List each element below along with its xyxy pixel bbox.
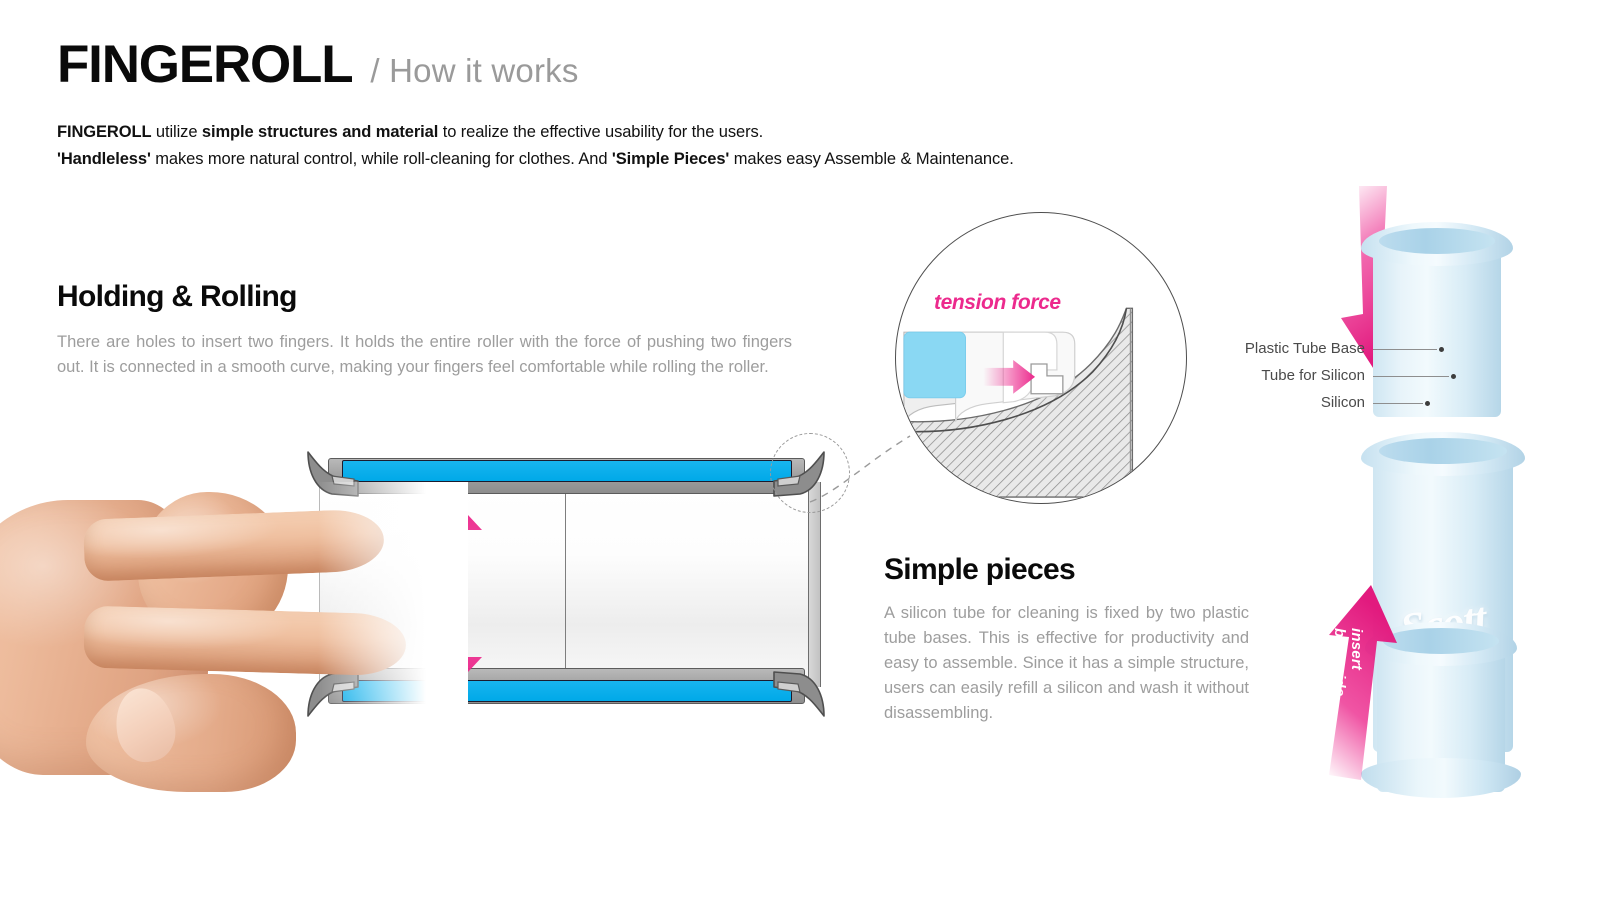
- magnifier-detail: tension force: [895, 212, 1187, 504]
- leader-dot-3: [1425, 401, 1430, 406]
- tension-cross-section-diagram: [896, 213, 1186, 503]
- leader-dot-1: [1439, 347, 1444, 352]
- intro-text-2: to realize the effective usability for t…: [438, 123, 763, 141]
- intro-text-4: makes easy Assemble & Maintenance.: [729, 150, 1013, 168]
- roller-top-cyan-strip: [342, 460, 792, 482]
- tube-base-top-cylinder: [1373, 244, 1501, 417]
- tube-base-bottom-rim: [1383, 628, 1499, 654]
- leader-line-2: [1373, 376, 1449, 377]
- plastic-tube-base-top: [1373, 222, 1501, 417]
- page-title: FINGEROLL: [57, 38, 352, 91]
- poster-canvas: FINGEROLL / How it works FINGEROLL utili…: [0, 0, 1600, 900]
- intro-text-3: makes more natural control, while roll-c…: [151, 150, 612, 168]
- exploded-tube-assembly: Scott ® insert both side Plastic Tube Ba…: [1225, 190, 1585, 780]
- page-subtitle: / How it works: [370, 54, 578, 87]
- holding-heading: Holding & Rolling: [57, 280, 797, 314]
- silicon-tube-inner-rim: [1379, 438, 1507, 464]
- insert-both-side-label: insert both side: [1331, 628, 1365, 696]
- simple-body: A silicon tube for cleaning is fixed by …: [884, 601, 1249, 726]
- holding-body: There are holes to insert two fingers. I…: [57, 330, 792, 380]
- intro-text-1: utilize: [151, 123, 201, 141]
- intro-emph-2: 'Handleless': [57, 150, 151, 168]
- leader-dot-2: [1451, 374, 1456, 379]
- intro-paragraph: FINGEROLL utilize simple structures and …: [57, 119, 1507, 172]
- title-row: FINGEROLL / How it works: [57, 38, 1507, 91]
- header: FINGEROLL / How it works FINGEROLL utili…: [57, 38, 1507, 172]
- label-plastic-tube-base: Plastic Tube Base: [1225, 340, 1365, 357]
- section-holding-rolling: Holding & Rolling There are holes to ins…: [57, 280, 797, 380]
- insert-label-line-2: both side: [1331, 628, 1348, 696]
- intro-line-1: FINGEROLL utilize simple structures and …: [57, 119, 1507, 146]
- intro-brand: FINGEROLL: [57, 123, 151, 141]
- hand-photo: [0, 492, 458, 792]
- hand-fade-mask: [318, 482, 468, 802]
- simple-heading: Simple pieces: [884, 553, 1249, 587]
- tube-base-top-rim: [1379, 228, 1495, 254]
- insert-label-line-1: insert: [1348, 628, 1365, 696]
- intro-line-2: 'Handleless' makes more natural control,…: [57, 146, 1507, 173]
- section-simple-pieces: Simple pieces A silicon tube for cleanin…: [884, 553, 1249, 726]
- leader-line-1: [1373, 349, 1437, 350]
- magnifier-ring: tension force: [895, 212, 1187, 504]
- intro-emph-3: 'Simple Pieces': [612, 150, 729, 168]
- label-tube-for-silicon: Tube for Silicon: [1225, 367, 1365, 384]
- tension-force-label: tension force: [934, 291, 1061, 315]
- label-silicon: Silicon: [1225, 394, 1365, 411]
- roller-center-seam: [565, 492, 566, 672]
- intro-emph-1: simple structures and material: [202, 123, 438, 141]
- leader-line-3: [1373, 403, 1423, 404]
- end-cap-bottom-right-icon: [770, 658, 830, 720]
